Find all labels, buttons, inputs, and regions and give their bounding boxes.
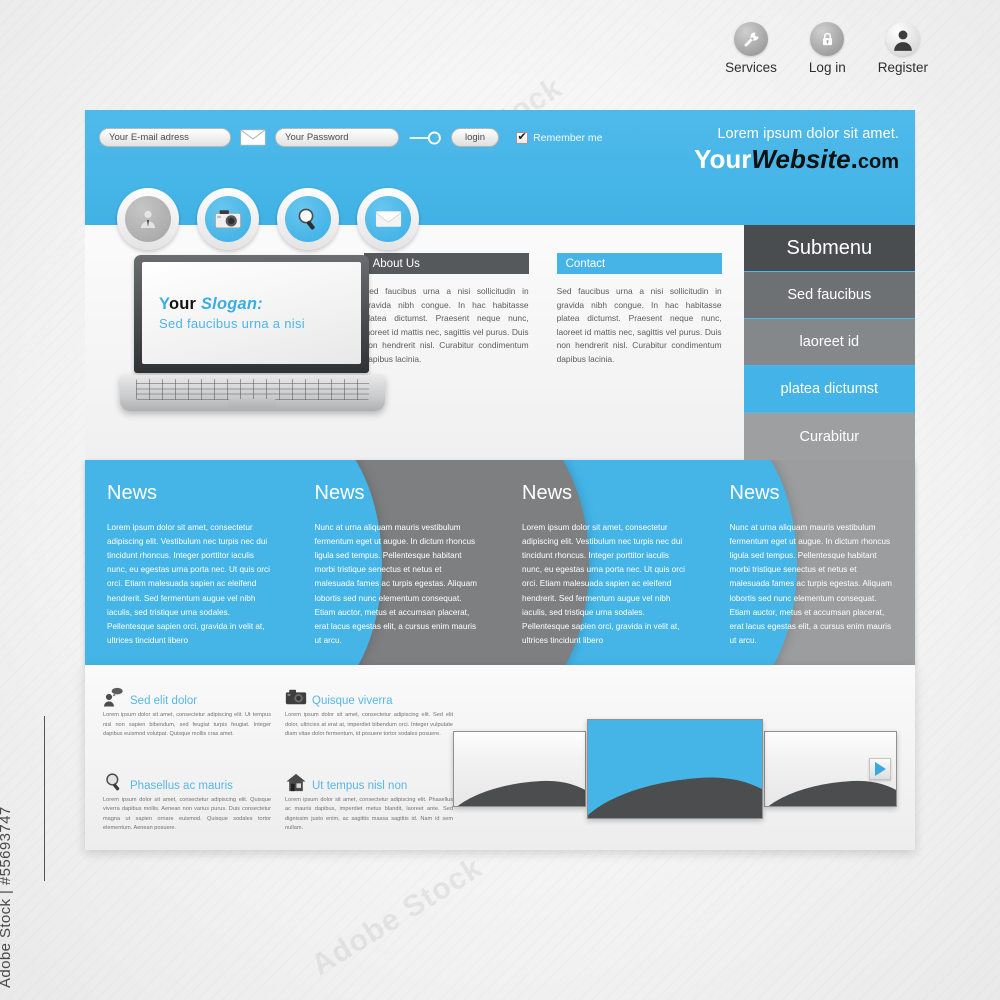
key-icon: [408, 130, 442, 146]
site-logo[interactable]: Lorem ipsum dolor sit amet. YourWebsite.…: [694, 126, 899, 174]
laptop-illustration: Your Slogan: Sed faucibus urna a nisi: [120, 255, 385, 411]
home-icon: [285, 772, 307, 792]
news-body: Lorem ipsum dolor sit amet, consectetur …: [107, 521, 271, 648]
feature-phasellus-ac-mauris[interactable]: Phasellus ac mauris Lorem ipsum dolor si…: [103, 772, 271, 850]
carousel-next-button[interactable]: [869, 758, 891, 780]
content-column-contact: Contact Sed faucibus urna a nisi sollici…: [557, 253, 722, 460]
content-column-about: About Us Sed faucibus urna a nisi sollic…: [364, 253, 529, 460]
submenu-item-sed-faucibus[interactable]: Sed faucibus: [744, 272, 915, 319]
topnav-label: Log in: [809, 60, 846, 75]
hero-subtitle: Sed faucibus urna a nisi: [159, 316, 361, 331]
feature-quisque-viverra[interactable]: Quisque viverra Lorem ipsum dolor sit am…: [285, 687, 453, 756]
email-input[interactable]: [99, 128, 231, 147]
news-column: News Lorem ipsum dolor sit amet, consect…: [85, 460, 293, 665]
icon-nav-mail[interactable]: [357, 188, 419, 250]
column-body: Sed faucibus urna a nisi sollicitudin in…: [557, 285, 722, 367]
hero-slogan: Your Slogan:: [159, 295, 361, 314]
image-carousel: [453, 687, 897, 850]
feature-title: Quisque viverra: [312, 695, 393, 707]
search-icon: [285, 196, 331, 242]
tools-icon: [734, 22, 768, 56]
site-header: login ✔ Remember me Lorem ipsum dolor si…: [85, 110, 915, 225]
arrow-right-icon: [875, 762, 886, 776]
news-heading: News: [730, 482, 894, 505]
website-mockup: login ✔ Remember me Lorem ipsum dolor si…: [85, 110, 915, 850]
icon-nav-search[interactable]: [277, 188, 339, 250]
logo-part-com: com: [858, 151, 899, 173]
envelope-icon: [240, 129, 266, 146]
slide-wave-graphic: [587, 773, 763, 818]
icon-nav-user[interactable]: [117, 188, 179, 250]
watermark-side-label: Adobe Stock | #55693747: [0, 806, 14, 988]
submenu-item-platea-dictumst[interactable]: platea dictumst: [744, 366, 915, 413]
topnav-label: Register: [878, 60, 928, 75]
carousel-slide-prev[interactable]: [453, 731, 586, 807]
news-column: News Nunc at urna aliquam mauris vestibu…: [708, 460, 916, 665]
column-header: Contact: [557, 253, 722, 274]
news-heading: News: [107, 482, 271, 505]
top-utility-nav: Services Log in Register: [725, 22, 928, 75]
laptop-lid: Your Slogan: Sed faucibus urna a nisi: [134, 255, 369, 373]
logo-part-your: Your: [694, 144, 751, 174]
carousel-slide-active[interactable]: [587, 719, 763, 819]
logo-part-dot: .: [851, 144, 858, 174]
feature-grid: Sed elit dolor Lorem ipsum dolor sit ame…: [103, 687, 453, 850]
login-button[interactable]: login: [451, 128, 499, 147]
user-icon: [886, 22, 920, 56]
submenu-panel: Submenu Sed faucibus laoreet id platea d…: [744, 225, 915, 460]
feature-sed-elit-dolor[interactable]: Sed elit dolor Lorem ipsum dolor sit ame…: [103, 687, 271, 756]
laptop-base: [120, 375, 385, 411]
mail-icon: [365, 196, 411, 242]
remember-me-label: Remember me: [533, 132, 602, 144]
laptop-trackpad: [228, 399, 276, 408]
news-column: News Lorem ipsum dolor sit amet, consect…: [500, 460, 708, 665]
feature-header: Ut tempus nisl non: [285, 772, 453, 792]
content-columns: About Us Sed faucibus urna a nisi sollic…: [356, 225, 744, 460]
hero-band: Your Slogan: Sed faucibus urna a nisi Ab…: [85, 225, 915, 460]
news-heading: News: [522, 482, 686, 505]
logo-wordmark: YourWebsite.com: [694, 145, 899, 174]
feature-header: Quisque viverra: [285, 687, 453, 707]
logo-part-website: Website: [751, 144, 850, 174]
feature-text: Lorem ipsum dolor sit amet, consectetur …: [285, 796, 453, 834]
feature-title: Ut tempus nisl non: [312, 780, 407, 792]
feature-text: Lorem ipsum dolor sit amet, consectetur …: [103, 796, 271, 834]
logo-tagline: Lorem ipsum dolor sit amet.: [694, 126, 899, 142]
slide-wave-graphic: [453, 777, 586, 806]
search-icon: [103, 772, 125, 792]
laptop-keyboard: [136, 379, 369, 400]
slogan-emphasis: Slogan:: [201, 295, 263, 313]
news-body: Nunc at urna aliquam mauris vestibulum f…: [315, 521, 479, 648]
feature-title: Sed elit dolor: [130, 695, 197, 707]
slogan-first-letter: Y: [159, 295, 169, 313]
submenu-header: Submenu: [744, 225, 915, 272]
hero-visual: Your Slogan: Sed faucibus urna a nisi: [85, 225, 356, 460]
slogan-rest: our: [169, 295, 201, 313]
feature-header: Phasellus ac mauris: [103, 772, 271, 792]
remember-me-control[interactable]: ✔ Remember me: [516, 132, 602, 144]
remember-me-checkbox[interactable]: ✔: [516, 132, 528, 144]
feature-text: Lorem ipsum dolor sit amet, consectetur …: [103, 711, 271, 740]
topnav-item-register[interactable]: Register: [878, 22, 928, 75]
column-header: About Us: [364, 253, 529, 274]
topnav-item-login[interactable]: Log in: [809, 22, 846, 75]
footer-band: Sed elit dolor Lorem ipsum dolor sit ame…: [85, 665, 915, 850]
password-input[interactable]: [275, 128, 399, 147]
submenu-item-laoreet-id[interactable]: laoreet id: [744, 319, 915, 366]
news-column: News Nunc at urna aliquam mauris vestibu…: [293, 460, 501, 665]
login-bar: login ✔ Remember me: [99, 128, 603, 147]
news-body: Lorem ipsum dolor sit amet, consectetur …: [522, 521, 686, 648]
column-body: Sed faucibus urna a nisi sollicitudin in…: [364, 285, 529, 367]
chat-user-icon: [103, 687, 125, 707]
lock-icon: [810, 22, 844, 56]
camera-icon: [205, 196, 251, 242]
news-heading: News: [315, 482, 479, 505]
user-icon: [125, 196, 171, 242]
icon-nav-camera[interactable]: [197, 188, 259, 250]
camera-icon: [285, 687, 307, 707]
feature-text: Lorem ipsum dolor sit amet, consectetur …: [285, 711, 453, 740]
slide-wave-graphic: [764, 777, 897, 806]
news-body: Nunc at urna aliquam mauris vestibulum f…: [730, 521, 894, 648]
news-band: News Lorem ipsum dolor sit amet, consect…: [85, 460, 915, 665]
feature-header: Sed elit dolor: [103, 687, 271, 707]
topnav-label: Services: [725, 60, 777, 75]
feature-ut-tempus-nisl-non[interactable]: Ut tempus nisl non Lorem ipsum dolor sit…: [285, 772, 453, 850]
feature-title: Phasellus ac mauris: [130, 780, 233, 792]
topnav-item-services[interactable]: Services: [725, 22, 777, 75]
watermark-divider: [44, 716, 45, 881]
laptop-screen: Your Slogan: Sed faucibus urna a nisi: [142, 262, 361, 364]
submenu-item-curabitur[interactable]: Curabitur: [744, 413, 915, 460]
icon-nav-strip: [117, 188, 419, 250]
